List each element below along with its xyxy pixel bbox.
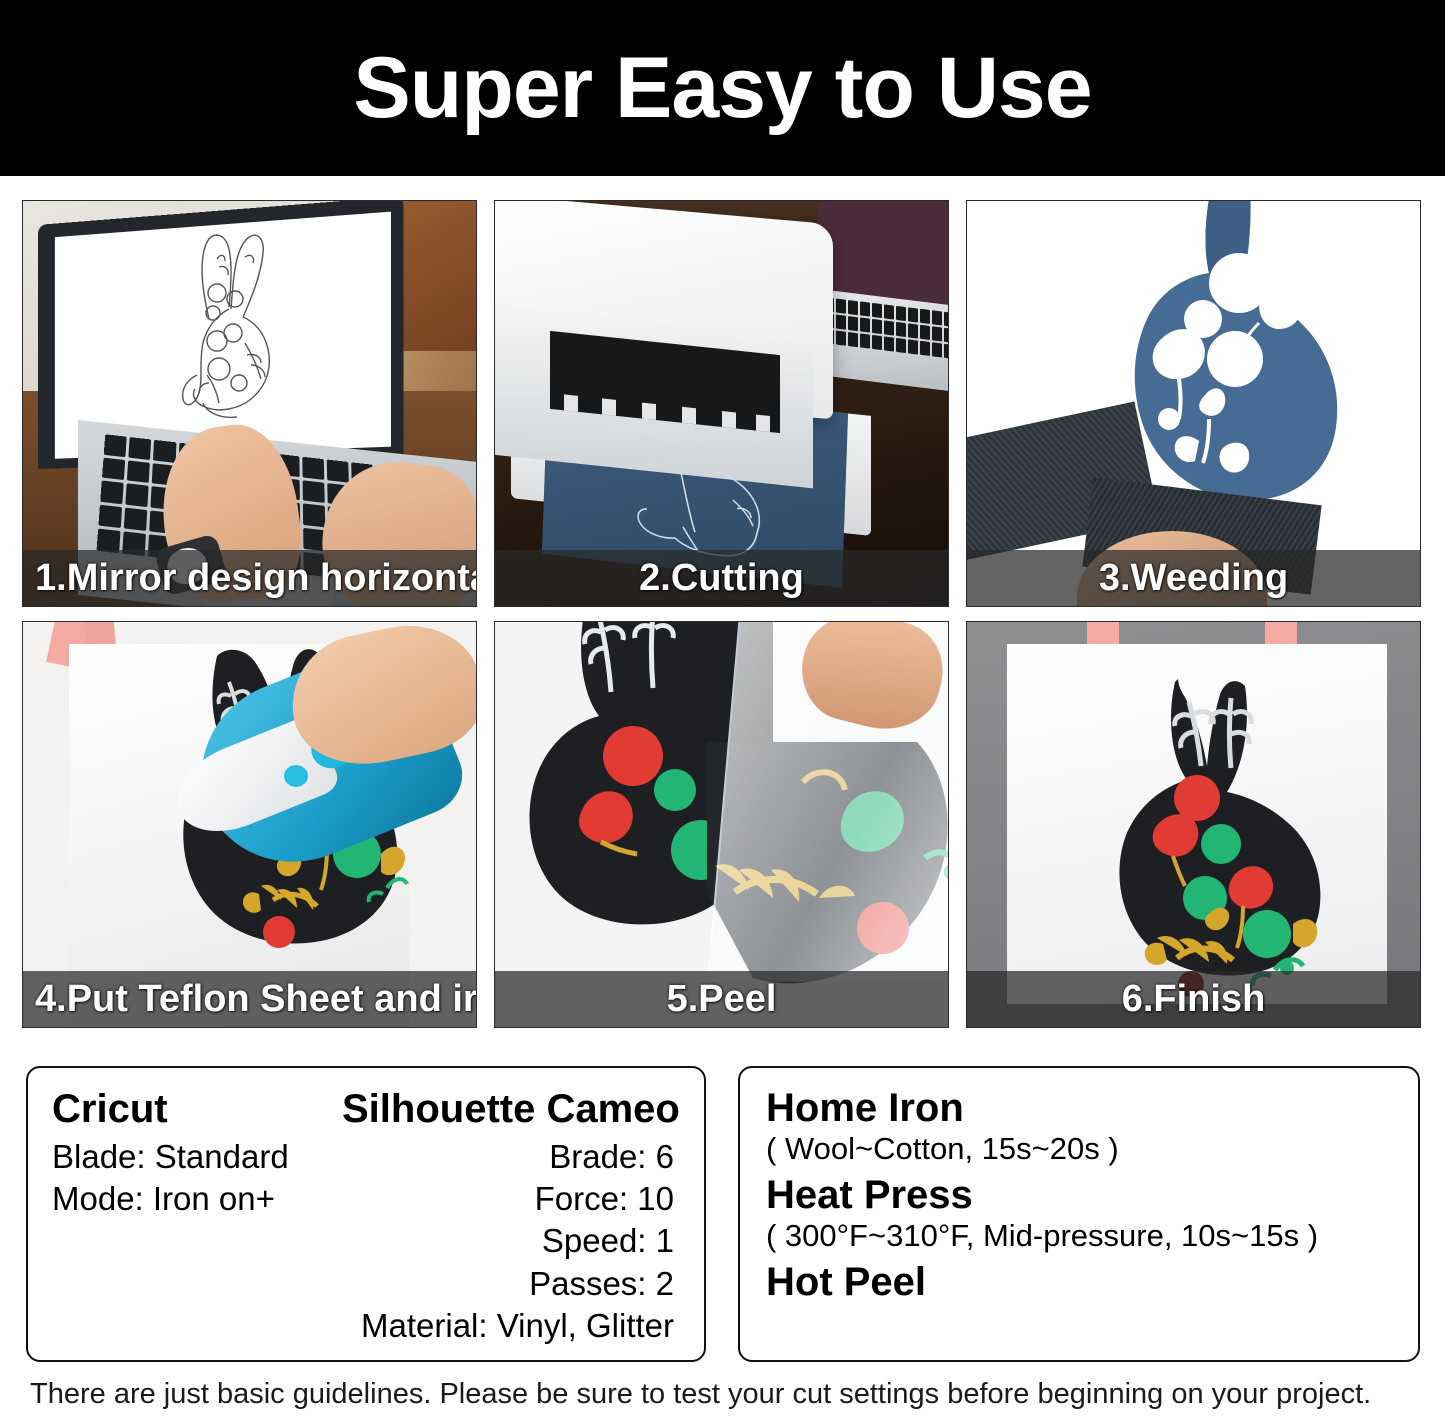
header-banner: Super Easy to Use xyxy=(0,0,1445,176)
scene-finished-tote xyxy=(967,622,1420,1027)
scene-peel-carrier xyxy=(495,622,948,1027)
step-cell-2: 2.Cutting xyxy=(494,200,949,607)
silhouette-material-line: Material: Vinyl, Glitter xyxy=(342,1305,674,1347)
step-caption-2: 2.Cutting xyxy=(639,559,804,597)
infographic-page: Super Easy to Use xyxy=(0,0,1445,1422)
bunny-finished-icon xyxy=(1071,676,1341,1006)
step-cell-6: 6.Finish xyxy=(966,621,1421,1028)
silhouette-settings-list: Brade: 6 Force: 10 Speed: 1 Passes: 2 Ma… xyxy=(342,1136,680,1347)
scene-laptop-design xyxy=(23,201,476,606)
home-iron-detail: ( Wool~Cotton, 15s~20s ) xyxy=(766,1130,1394,1167)
steps-grid: 1.Mirror design horizontally xyxy=(22,200,1422,1028)
cricut-blade-line: Blade: Standard xyxy=(52,1136,342,1178)
step-cell-4: 4.Put Teflon Sheet and iroing xyxy=(22,621,477,1028)
cricut-settings-list: Blade: Standard Mode: Iron on+ xyxy=(52,1136,342,1347)
scene-cutting-machine xyxy=(495,201,948,606)
step-caption-4: 4.Put Teflon Sheet and iroing xyxy=(35,980,477,1018)
cricut-mode-line: Mode: Iron on+ xyxy=(52,1178,342,1220)
cricut-title: Cricut xyxy=(52,1088,342,1130)
home-iron-title: Home Iron xyxy=(766,1086,1394,1130)
step-cell-3: 3.Weeding xyxy=(966,200,1421,607)
silhouette-force-line: Force: 10 xyxy=(342,1178,674,1220)
step-caption-bar-1: 1.Mirror design horizontally xyxy=(23,550,476,606)
finished-bunny-design xyxy=(1071,676,1341,1006)
hot-peel-title: Hot Peel xyxy=(766,1260,1394,1304)
step-caption-bar-4: 4.Put Teflon Sheet and iroing xyxy=(23,971,476,1027)
scene-weeding-vinyl xyxy=(967,201,1420,606)
step-caption-6: 6.Finish xyxy=(1122,980,1266,1018)
step-caption-5: 5.Peel xyxy=(667,980,777,1018)
step-caption-bar-3: 3.Weeding xyxy=(967,550,1420,606)
settings-panels: Cricut Silhouette Cameo Blade: Standard … xyxy=(26,1066,1420,1362)
heat-press-detail: ( 300°F~310°F, Mid-pressure, 10s~15s ) xyxy=(766,1217,1394,1254)
silhouette-passes-line: Passes: 2 xyxy=(342,1263,674,1305)
step-caption-bar-2: 2.Cutting xyxy=(495,550,948,606)
silhouette-speed-line: Speed: 1 xyxy=(342,1220,674,1262)
step-caption-bar-5: 5.Peel xyxy=(495,971,948,1027)
silhouette-title: Silhouette Cameo xyxy=(342,1088,680,1130)
step-caption-1: 1.Mirror design horizontally xyxy=(35,559,477,597)
step-caption-bar-6: 6.Finish xyxy=(967,971,1420,1027)
heat-press-title: Heat Press xyxy=(766,1173,1394,1217)
heat-settings-panel: Home Iron ( Wool~Cotton, 15s~20s ) Heat … xyxy=(738,1066,1420,1362)
step-cell-1: 1.Mirror design horizontally xyxy=(22,200,477,607)
footer-note: There are just basic guidelines. Please … xyxy=(30,1378,1430,1411)
machine-panel-columns: Blade: Standard Mode: Iron on+ Brade: 6 … xyxy=(52,1136,680,1347)
machine-panel-headings: Cricut Silhouette Cameo xyxy=(52,1088,680,1130)
scene-ironing-tote xyxy=(23,622,476,1027)
iron-steam-dial xyxy=(281,762,311,790)
step-cell-5: 5.Peel xyxy=(494,621,949,1028)
machine-settings-panel: Cricut Silhouette Cameo Blade: Standard … xyxy=(26,1066,706,1362)
page-title: Super Easy to Use xyxy=(353,45,1091,131)
step-caption-3: 3.Weeding xyxy=(1099,559,1288,597)
silhouette-brade-line: Brade: 6 xyxy=(342,1136,674,1178)
bunny-outline-design-icon xyxy=(173,223,301,428)
